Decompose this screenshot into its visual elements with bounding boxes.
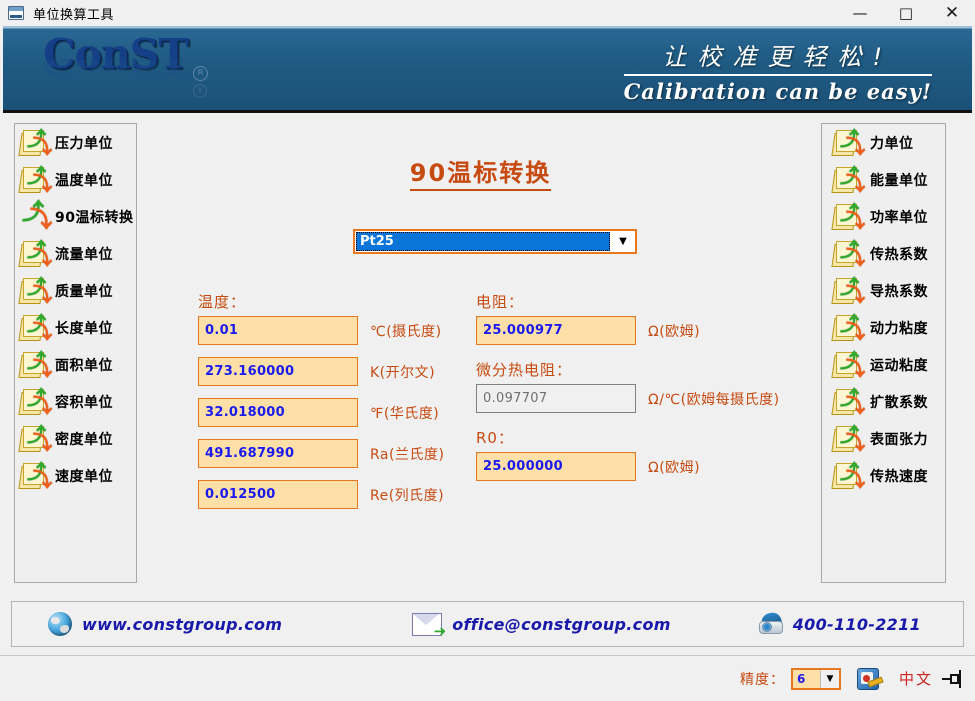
temperature-input-3[interactable]: 491.687990: [198, 439, 358, 468]
sidebar-item-label: 运动粘度: [870, 355, 928, 375]
sidebar-item-right-5[interactable]: ⤴⤵动力粘度: [822, 309, 945, 346]
sidebar-item-left-6[interactable]: ⤴⤵面积单位: [15, 346, 136, 383]
registered-mark-secondary-icon: ®: [193, 84, 207, 98]
convert-arrows-icon: ⤴⤵: [832, 129, 862, 157]
temperature-unit-2: ℉(华氏度): [370, 403, 439, 423]
convert-arrows-icon: ⤴⤵: [19, 129, 49, 157]
temperature-input-1[interactable]: 273.160000: [198, 357, 358, 386]
r0-input[interactable]: 25.000000: [476, 452, 636, 481]
sidebar-item-left-7[interactable]: ⤴⤵容积单位: [15, 383, 136, 420]
temperature-input-4[interactable]: 0.012500: [198, 480, 358, 509]
status-bar: 精度： 6 ▼ 中文: [0, 655, 975, 701]
convert-arrows-icon: ⤴⤵: [19, 166, 49, 194]
phone-text: 400-110-2211: [793, 615, 921, 634]
right-sidebar: ⤴⤵力单位⤴⤵能量单位⤴⤵功率单位⤴⤵传热系数⤴⤵导热系数⤴⤵动力粘度⤴⤵运动粘…: [821, 123, 946, 583]
footer-contact-bar: www.constgroup.com ➜ office@constgroup.c…: [11, 601, 964, 647]
convert-arrows-icon: ⤴⤵: [19, 388, 49, 416]
sidebar-item-label: 动力粘度: [870, 318, 928, 338]
r0-row: 25.000000 Ω(欧姆): [476, 452, 780, 481]
slogan-chinese: 让校准更轻松!: [624, 42, 932, 76]
sidebar-item-label: 扩散系数: [870, 392, 928, 412]
convert-arrows-icon: ⤴⤵: [832, 425, 862, 453]
window-controls: — □ ✕: [837, 0, 975, 26]
convert-arrows-icon: ⤴⤵: [19, 425, 49, 453]
phone-entry: 400-110-2211: [757, 613, 921, 635]
convert-arrows-icon: ⤴⤵: [19, 240, 49, 268]
left-sidebar: ⤴⤵压力单位⤴⤵温度单位⤴⤵90温标转换⤴⤵流量单位⤴⤵质量单位⤴⤵长度单位⤴⤵…: [14, 123, 137, 583]
const-logo: ConST ConST R ®: [43, 34, 243, 106]
precision-stepper[interactable]: 6 ▼: [791, 668, 841, 690]
temperature-row-3: 491.687990Ra(兰氏度): [198, 439, 444, 468]
temperature-unit-1: K(开尔文): [370, 362, 435, 382]
temperature-unit-0: ℃(摄氏度): [370, 321, 442, 341]
brand-banner: ConST ConST R ® 让校准更轻松! Calibration can …: [3, 26, 972, 113]
sidebar-item-label: 导热系数: [870, 281, 928, 301]
registration-key-icon[interactable]: [857, 668, 881, 690]
sidebar-item-label: 传热速度: [870, 466, 928, 486]
maximize-button[interactable]: □: [883, 0, 929, 26]
sidebar-item-label: 压力单位: [55, 133, 113, 153]
website-text[interactable]: www.constgroup.com: [82, 615, 282, 634]
sidebar-item-left-4[interactable]: ⤴⤵质量单位: [15, 272, 136, 309]
sidebar-item-left-2[interactable]: ⤴⤵90温标转换: [15, 198, 136, 235]
sidebar-item-label: 容积单位: [55, 392, 113, 412]
temperature-row-0: 0.01℃(摄氏度): [198, 316, 444, 345]
page-title: 90温标转换: [148, 153, 813, 188]
sidebar-item-right-0[interactable]: ⤴⤵力单位: [822, 124, 945, 161]
resistance-input[interactable]: 25.000977: [476, 316, 636, 345]
minimize-button[interactable]: —: [837, 0, 883, 26]
convert-arrows-icon: ⤴⤵: [19, 314, 49, 342]
sidebar-item-label: 传热系数: [870, 244, 928, 264]
convert-arrows-icon: ⤴⤵: [832, 388, 862, 416]
app-icon: [8, 6, 24, 20]
differential-row: 0.097707 Ω/℃(欧姆每摄氏度): [476, 384, 780, 413]
slogan: 让校准更轻松! Calibration can be easy!: [624, 42, 932, 104]
sensor-type-select[interactable]: Pt25 ▼: [353, 229, 637, 254]
content-area: ⤴⤵压力单位⤴⤵温度单位⤴⤵90温标转换⤴⤵流量单位⤴⤵质量单位⤴⤵长度单位⤴⤵…: [3, 113, 972, 593]
sidebar-item-label: 面积单位: [55, 355, 113, 375]
sidebar-item-left-9[interactable]: ⤴⤵速度单位: [15, 457, 136, 494]
temperature-row-4: 0.012500Re(列氏度): [198, 480, 444, 509]
sidebar-item-right-9[interactable]: ⤴⤵传热速度: [822, 457, 945, 494]
r0-unit: Ω(欧姆): [648, 457, 700, 477]
convert-arrows-icon: ⤴⤵: [832, 240, 862, 268]
differential-unit: Ω/℃(欧姆每摄氏度): [648, 389, 780, 409]
sidebar-item-label: 温度单位: [55, 170, 113, 190]
sidebar-item-label: 流量单位: [55, 244, 113, 264]
convert-arrows-icon: ⤴⤵: [19, 277, 49, 305]
sidebar-item-label: 能量单位: [870, 170, 928, 190]
main-panel: 90温标转换 Pt25 ▼ 温度： 0.01℃(摄氏度)273.160000K(…: [148, 123, 813, 583]
telephone-icon: [757, 613, 783, 635]
temperature-unit-4: Re(列氏度): [370, 485, 444, 505]
convert-arrows-icon: ⤴⤵: [832, 203, 862, 231]
sidebar-item-right-6[interactable]: ⤴⤵运动粘度: [822, 346, 945, 383]
sensor-type-value[interactable]: Pt25: [356, 232, 610, 251]
resistance-label: 电阻：: [476, 291, 780, 312]
precision-label: 精度：: [740, 669, 785, 689]
differential-input: 0.097707: [476, 384, 636, 413]
sidebar-item-label: 力单位: [870, 133, 914, 153]
temperature-unit-3: Ra(兰氏度): [370, 444, 444, 464]
sidebar-item-right-1[interactable]: ⤴⤵能量单位: [822, 161, 945, 198]
temperature-row-2: 32.018000℉(华氏度): [198, 398, 444, 427]
resistance-row: 25.000977 Ω(欧姆): [476, 316, 780, 345]
page-title-text: 90温标转换: [410, 159, 551, 191]
resistance-unit: Ω(欧姆): [648, 321, 700, 341]
unit-conversion-app: 单位换算工具 — □ ✕ ConST ConST R ® 让校准更轻松! Cal…: [0, 0, 975, 700]
window-title: 单位换算工具: [33, 4, 114, 23]
sidebar-item-left-8[interactable]: ⤴⤵密度单位: [15, 420, 136, 457]
resistance-group: 电阻： 25.000977 Ω(欧姆) 微分热电阻： 0.097707 Ω/℃(…: [476, 291, 780, 493]
temperature-label: 温度：: [198, 291, 444, 312]
convert-arrows-icon: ⤴⤵: [19, 462, 49, 490]
sidebar-item-left-5[interactable]: ⤴⤵长度单位: [15, 309, 136, 346]
sidebar-item-right-3[interactable]: ⤴⤵传热系数: [822, 235, 945, 272]
convert-arrows-icon: ⤴⤵: [832, 277, 862, 305]
chevron-down-icon[interactable]: ▼: [611, 231, 635, 252]
language-toggle[interactable]: 中文: [899, 668, 933, 689]
temperature-row-1: 273.160000K(开尔文): [198, 357, 444, 386]
precision-chevron-down-icon[interactable]: ▼: [820, 670, 839, 688]
precision-value[interactable]: 6: [793, 670, 820, 688]
pin-window-icon[interactable]: [941, 670, 963, 688]
envelope-icon: ➜: [412, 613, 442, 636]
slogan-english: Calibration can be easy!: [624, 79, 932, 104]
window-titlebar: 单位换算工具 — □ ✕: [0, 0, 975, 26]
sidebar-item-left-1[interactable]: ⤴⤵温度单位: [15, 161, 136, 198]
sidebar-item-right-8[interactable]: ⤴⤵表面张力: [822, 420, 945, 457]
sidebar-item-label: 长度单位: [55, 318, 113, 338]
convert-arrows-icon: ⤴⤵: [832, 351, 862, 379]
sidebar-item-left-0[interactable]: ⤴⤵压力单位: [15, 124, 136, 161]
website-link[interactable]: www.constgroup.com: [48, 612, 282, 636]
sidebar-item-label: 质量单位: [55, 281, 113, 301]
sidebar-item-label: 表面张力: [870, 429, 928, 449]
convert-arrows-icon: ⤴⤵: [19, 203, 49, 231]
convert-arrows-icon: ⤴⤵: [832, 314, 862, 342]
temperature-input-2[interactable]: 32.018000: [198, 398, 358, 427]
registered-mark-icon: R: [193, 66, 208, 81]
logo-reflection: ConST: [43, 55, 188, 78]
email-link[interactable]: ➜ office@constgroup.com: [412, 613, 670, 636]
sidebar-item-label: 功率单位: [870, 207, 928, 227]
close-button[interactable]: ✕: [929, 0, 975, 26]
convert-arrows-icon: ⤴⤵: [832, 166, 862, 194]
sidebar-item-left-3[interactable]: ⤴⤵流量单位: [15, 235, 136, 272]
email-text[interactable]: office@constgroup.com: [452, 615, 670, 634]
r0-label: R0：: [476, 427, 780, 448]
temperature-group: 温度： 0.01℃(摄氏度)273.160000K(开尔文)32.018000℉…: [198, 291, 444, 521]
differential-label: 微分热电阻：: [476, 359, 780, 380]
globe-icon: [48, 612, 72, 636]
sidebar-item-right-7[interactable]: ⤴⤵扩散系数: [822, 383, 945, 420]
convert-arrows-icon: ⤴⤵: [19, 351, 49, 379]
sidebar-item-label: 密度单位: [55, 429, 113, 449]
sidebar-item-right-2[interactable]: ⤴⤵功率单位: [822, 198, 945, 235]
sidebar-item-right-4[interactable]: ⤴⤵导热系数: [822, 272, 945, 309]
sidebar-item-label: 速度单位: [55, 466, 113, 486]
temperature-input-0[interactable]: 0.01: [198, 316, 358, 345]
sidebar-item-label: 90温标转换: [55, 207, 133, 227]
convert-arrows-icon: ⤴⤵: [832, 462, 862, 490]
